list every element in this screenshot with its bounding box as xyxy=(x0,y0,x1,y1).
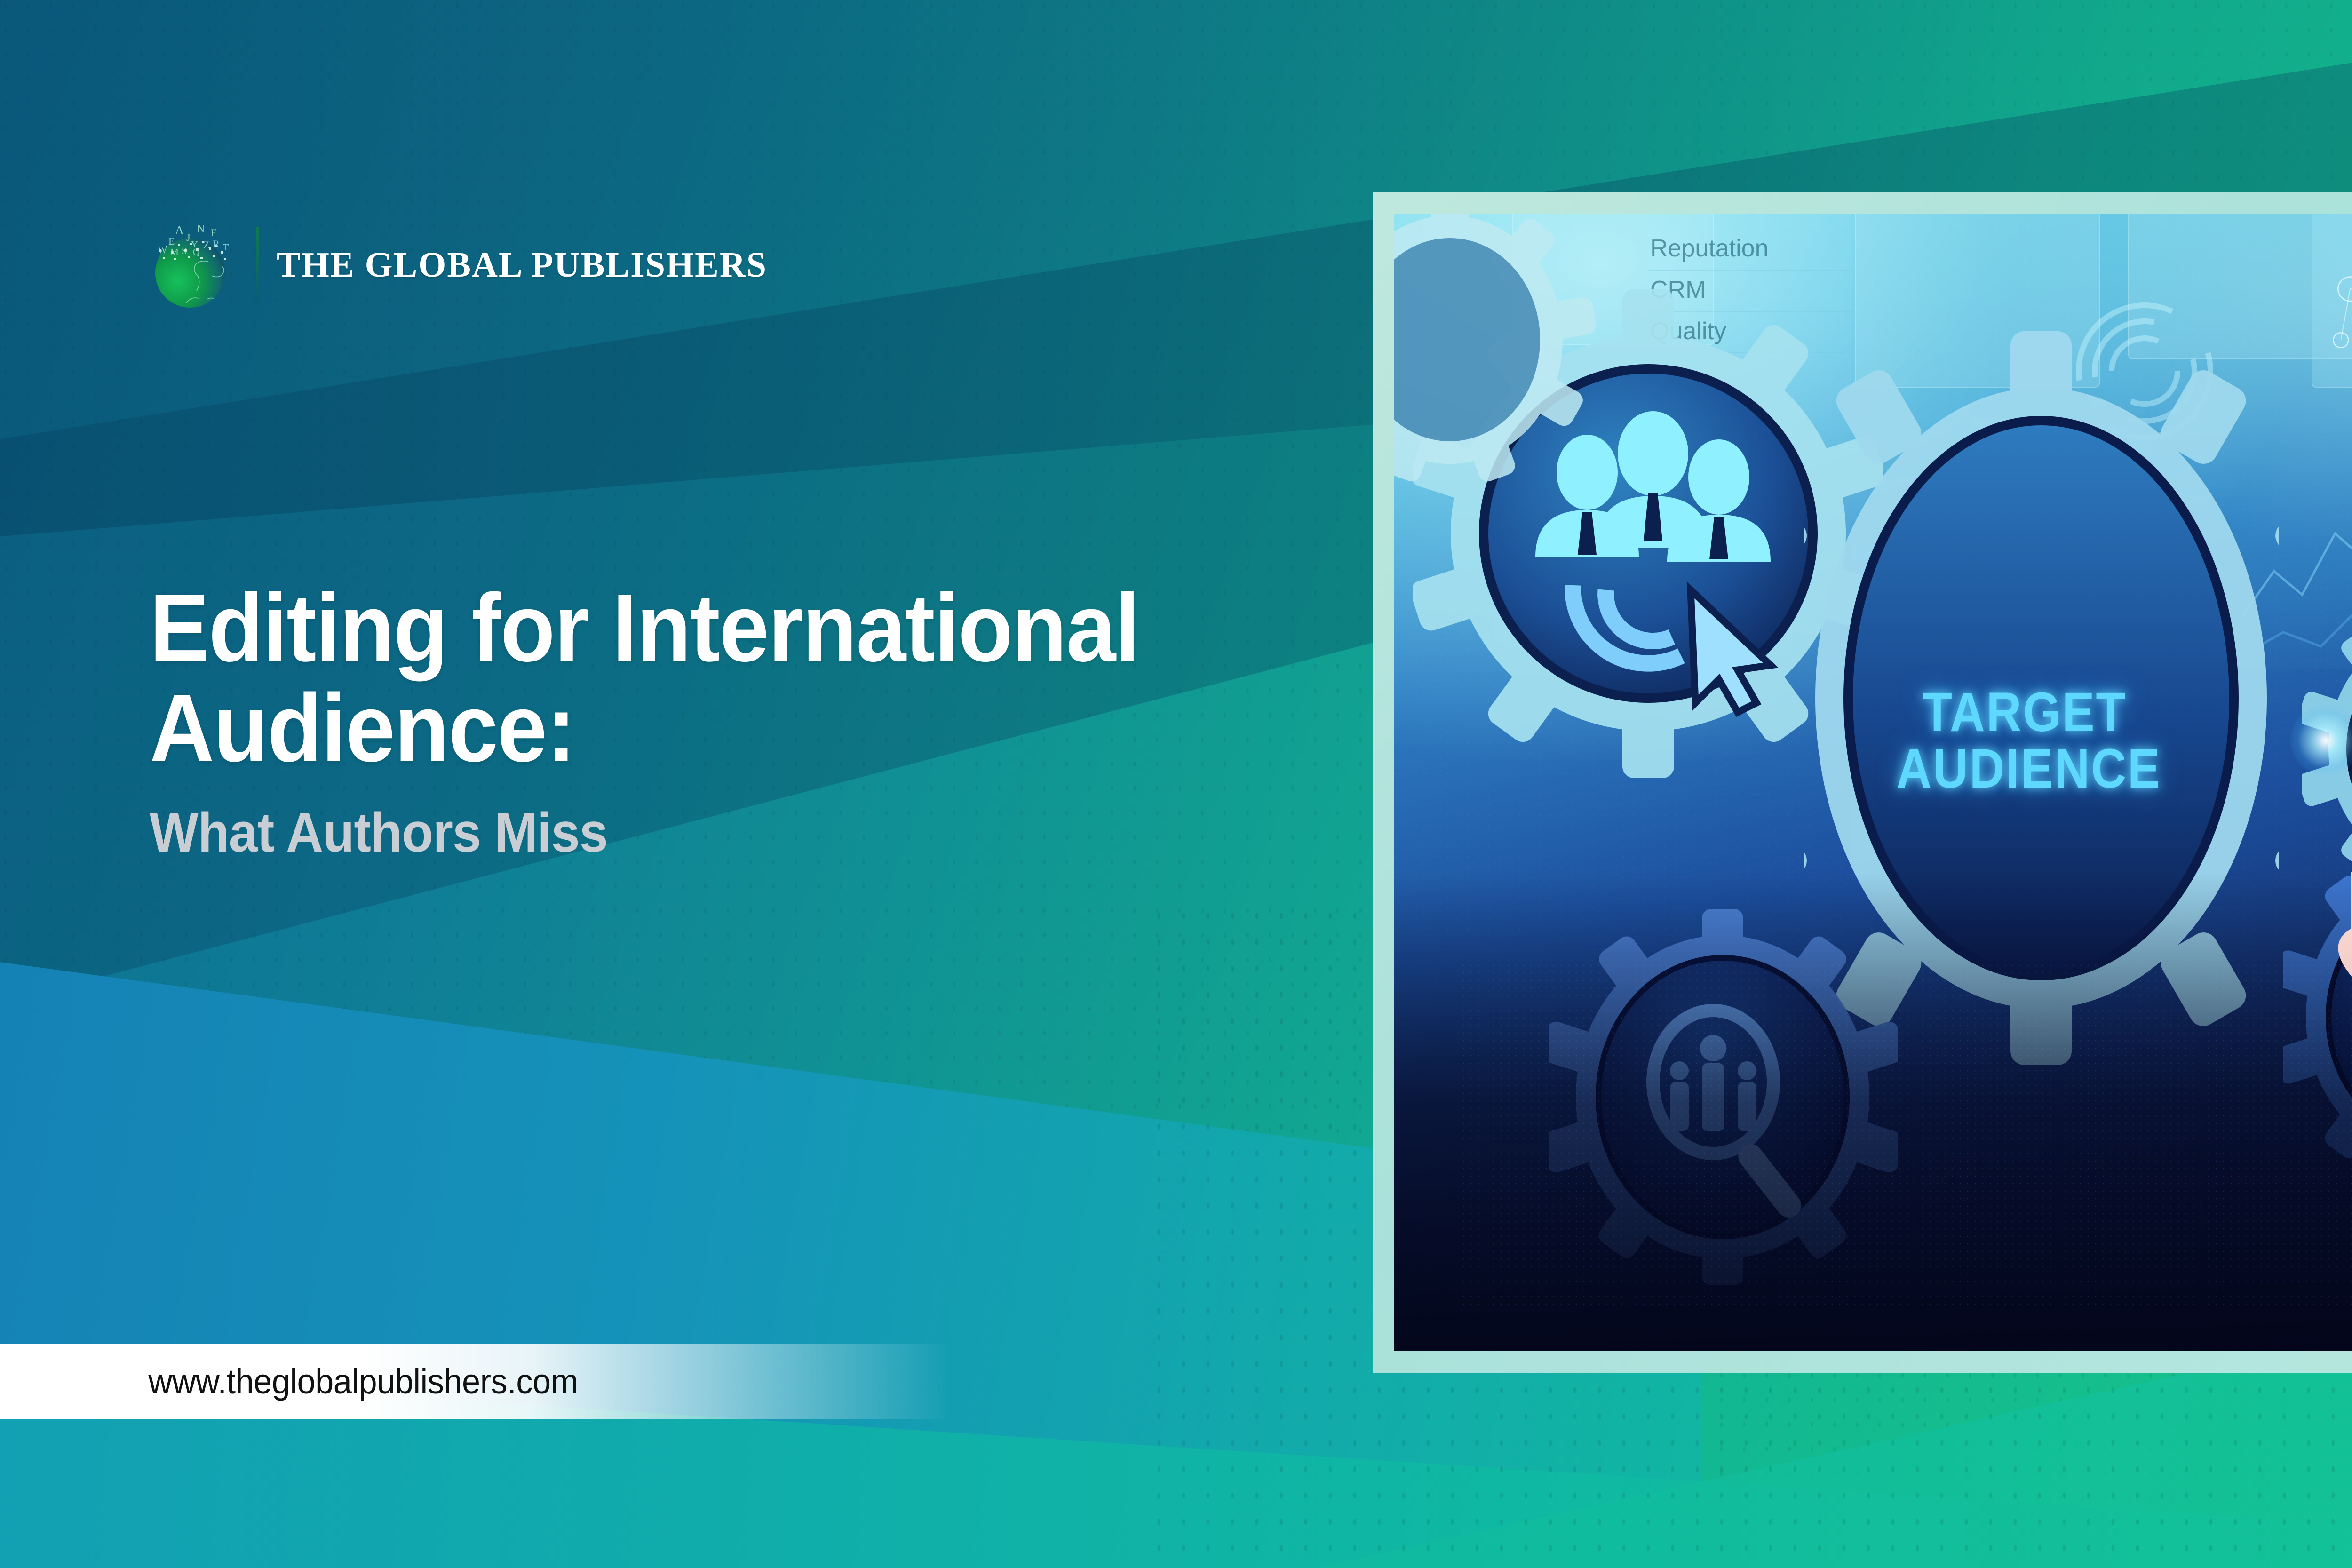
svg-text:S: S xyxy=(182,246,187,256)
hero-image: Reputation CRM Quality xyxy=(1394,214,2352,1351)
svg-text:N: N xyxy=(197,223,205,235)
target-audience-line1: TARGET xyxy=(1896,684,2153,740)
world-map-dots xyxy=(1462,964,2352,1305)
globe-letters-icon: A J N F E Y Z R W M S Q T xyxy=(141,220,242,310)
svg-text:A: A xyxy=(175,223,184,237)
page-title-line2: Audience: xyxy=(150,678,1322,778)
svg-text:T: T xyxy=(223,242,229,253)
svg-text:J: J xyxy=(186,231,191,243)
svg-text:R: R xyxy=(213,238,220,250)
hero-image-frame: Reputation CRM Quality xyxy=(1373,192,2352,1373)
headline-block: Editing for International Audience: What… xyxy=(150,578,1410,864)
brand-name: THE GLOBAL PUBLISHERS xyxy=(277,245,767,286)
logo-divider xyxy=(256,227,259,302)
target-audience-line2: AUDIENCE xyxy=(1896,740,2153,797)
brand-logo[interactable]: A J N F E Y Z R W M S Q T THE GLOBAL PUB… xyxy=(141,220,767,310)
page-subtitle: What Authors Miss xyxy=(150,803,1322,864)
website-url[interactable]: www.theglobalpublishers.com xyxy=(0,1361,578,1401)
svg-text:M: M xyxy=(170,247,179,257)
page-title-line1: Editing for International xyxy=(150,578,1322,678)
svg-text:Q: Q xyxy=(193,247,200,257)
poster-canvas: A J N F E Y Z R W M S Q T THE GLOBAL PUB… xyxy=(0,0,2352,1568)
gear-decoration-top-left xyxy=(1394,214,1597,496)
website-band[interactable]: www.theglobalpublishers.com xyxy=(0,1344,950,1419)
svg-text:E: E xyxy=(168,235,175,247)
svg-text:W: W xyxy=(158,245,167,255)
dashboard-label-0: Reputation xyxy=(1648,230,1851,271)
svg-text:Z: Z xyxy=(203,239,209,251)
target-audience-label: TARGET AUDIENCE xyxy=(1896,684,2153,797)
network-diagram-panel xyxy=(2312,214,2352,388)
svg-text:F: F xyxy=(211,227,216,239)
